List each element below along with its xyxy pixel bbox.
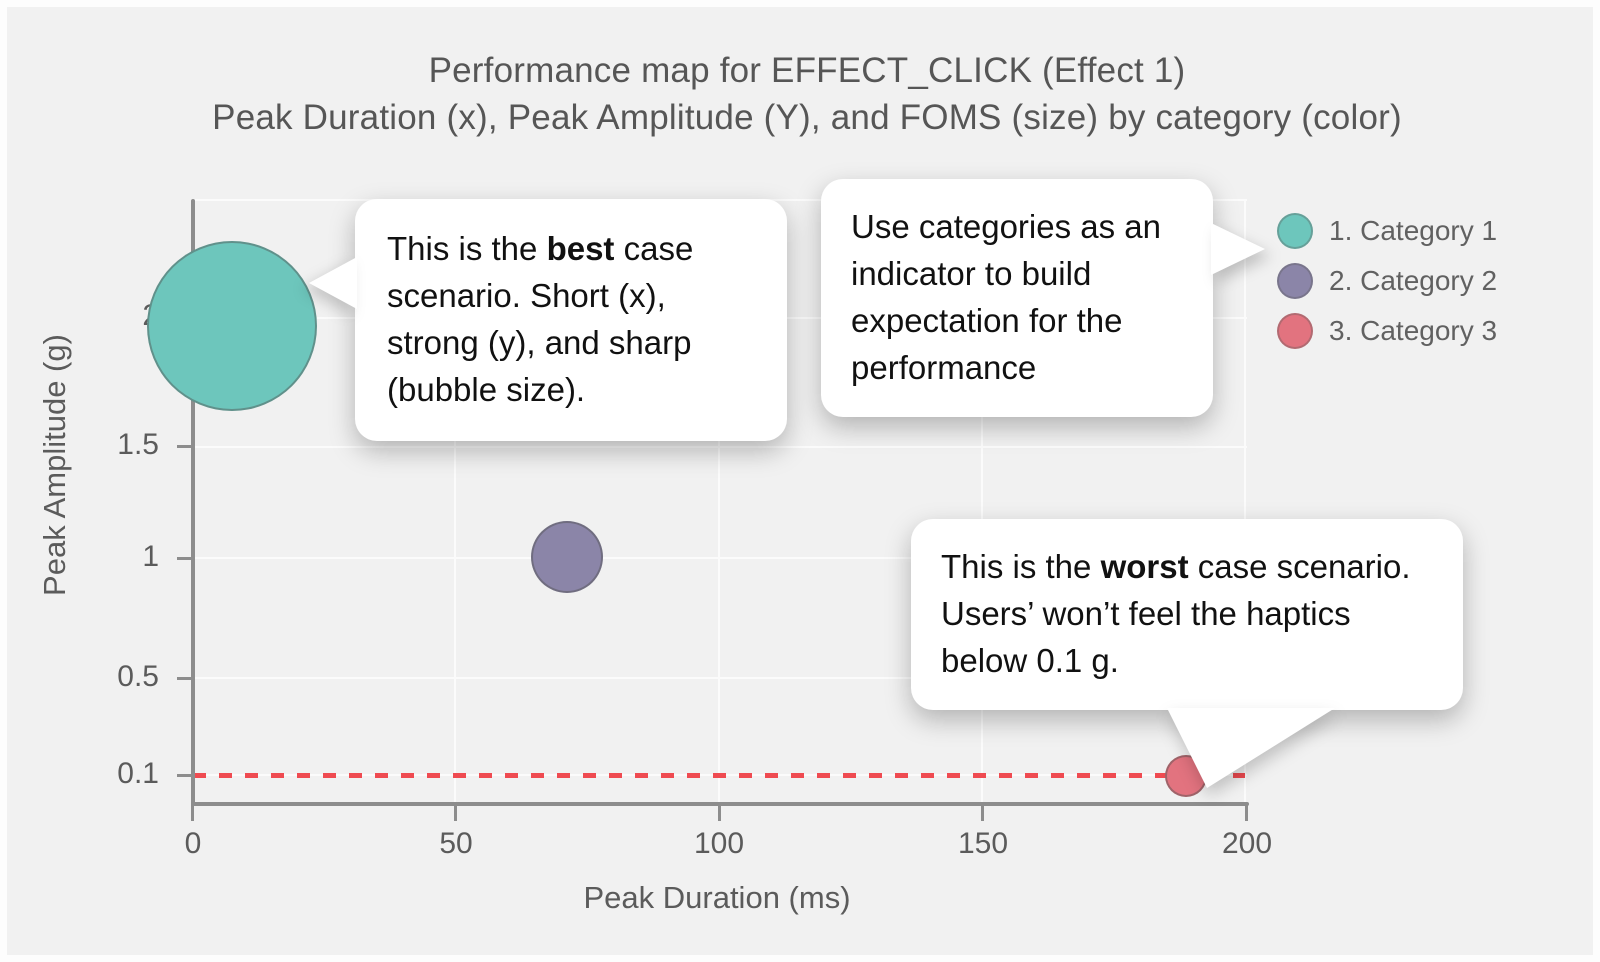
- callout-worst-case: This is the worst case scenario. Users’ …: [911, 519, 1463, 710]
- threshold-line-0.1g: [193, 773, 1245, 778]
- x-axis-tick-label: 100: [659, 827, 779, 861]
- callout-tail-icon: [309, 257, 357, 309]
- y-axis-tick: [177, 677, 193, 680]
- legend-item-label: 1. Category 1: [1329, 215, 1497, 247]
- callout-best-pre: This is the: [387, 230, 547, 267]
- y-axis-tick: [177, 774, 193, 777]
- x-axis-tick-label: 150: [923, 827, 1043, 861]
- title-line-primary: Performance map for EFFECT_CLICK (Effect…: [7, 47, 1600, 94]
- callout-categories: Use categories as an indicator to build …: [821, 179, 1213, 417]
- legend-item-category-2[interactable]: 2. Category 2: [1277, 260, 1497, 302]
- x-axis-tick-label: 0: [133, 827, 253, 861]
- legend-swatch-icon: [1277, 213, 1313, 249]
- bubble-category-2[interactable]: [531, 521, 603, 593]
- x-axis-tick: [1245, 804, 1248, 821]
- legend-item-label: 3. Category 3: [1329, 315, 1497, 347]
- x-axis-tick: [981, 804, 984, 821]
- bubble-category-1[interactable]: [147, 241, 317, 411]
- chart-screenshot: Performance map for EFFECT_CLICK (Effect…: [0, 0, 1600, 962]
- y-axis-tick-label: 0.1: [117, 757, 159, 791]
- y-axis-title: Peak Amplitude (g): [37, 235, 73, 695]
- x-axis-tick: [191, 804, 194, 821]
- legend-item-category-1[interactable]: 1. Category 1: [1277, 210, 1497, 252]
- callout-categories-text: Use categories as an indicator to build …: [851, 203, 1185, 391]
- legend-item-category-3[interactable]: 3. Category 3: [1277, 310, 1497, 352]
- y-axis-tick-label: 0.5: [117, 660, 159, 694]
- callout-best-text: This is the best case scenario. Short (x…: [387, 225, 757, 413]
- callout-worst-text: This is the worst case scenario. Users’ …: [941, 543, 1435, 684]
- x-axis-tick-label: 50: [396, 827, 516, 861]
- x-axis-tick: [718, 804, 721, 821]
- y-axis-tick-label: 1.5: [117, 428, 159, 462]
- page-title: Performance map for EFFECT_CLICK (Effect…: [7, 47, 1600, 141]
- x-axis-title: Peak Duration (ms): [7, 880, 1427, 916]
- x-axis-tick: [454, 804, 457, 821]
- callout-best-case: This is the best case scenario. Short (x…: [355, 199, 787, 441]
- legend: 1. Category 1 2. Category 2 3. Category …: [1277, 210, 1497, 352]
- legend-swatch-icon: [1277, 313, 1313, 349]
- callout-worst-emphasis: worst: [1101, 548, 1189, 585]
- x-axis-tick-label: 200: [1187, 827, 1307, 861]
- callout-worst-pre: This is the: [941, 548, 1101, 585]
- legend-swatch-icon: [1277, 263, 1313, 299]
- y-axis-tick: [177, 445, 193, 448]
- y-axis-tick-label: 1: [142, 540, 159, 574]
- legend-item-label: 2. Category 2: [1329, 265, 1497, 297]
- callout-best-emphasis: best: [547, 230, 615, 267]
- title-line-secondary: Peak Duration (x), Peak Amplitude (Y), a…: [7, 94, 1600, 141]
- callout-tail-icon: [1167, 708, 1335, 788]
- callout-tail-icon: [1211, 223, 1265, 275]
- y-axis-tick: [177, 557, 193, 560]
